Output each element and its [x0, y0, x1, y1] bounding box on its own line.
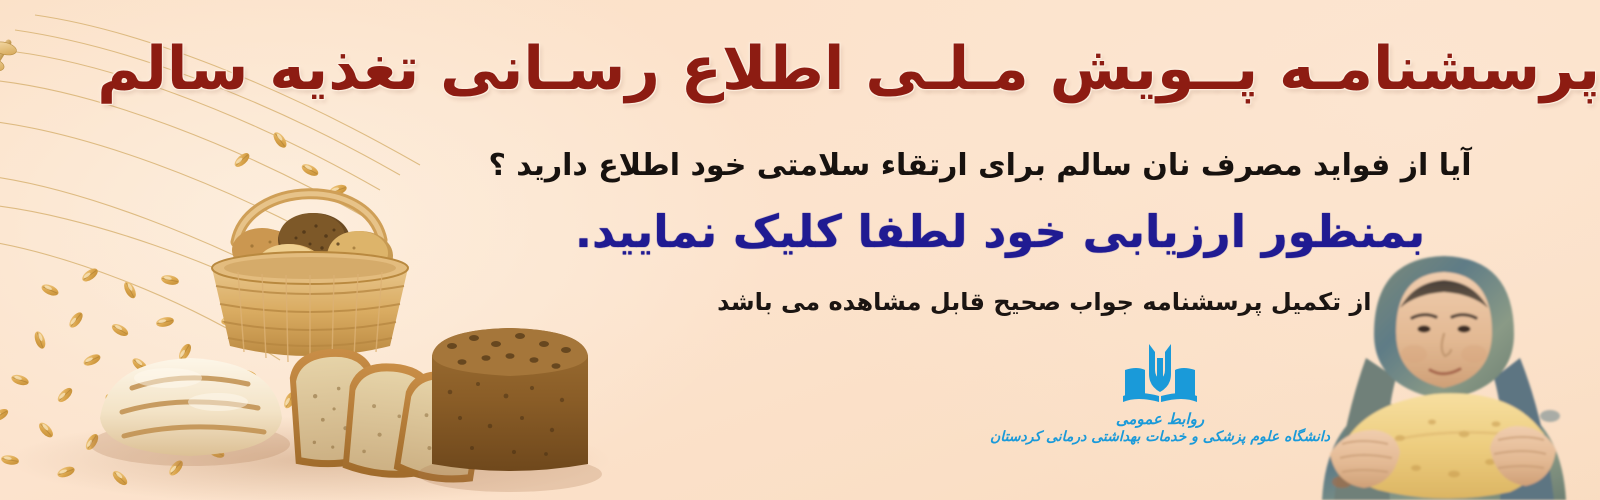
scattered-grains: [0, 130, 348, 488]
banner-subtitle: آیا از فواید مصرف نان سالم برای ارتقاء س…: [360, 148, 1600, 183]
open-book-tulip-emblem-icon: [1121, 340, 1199, 406]
logo-public-relations-label: روابط عمومی: [1116, 410, 1204, 428]
campaign-banner: پرسشنامـه پــویش مـلـی اطلاع رسـانی تغذی…: [0, 0, 1600, 500]
white-loaf: [90, 358, 290, 466]
page-title: پرسشنامـه پــویش مـلـی اطلاع رسـانی تغذی…: [350, 34, 1600, 105]
logo-university-label: دانشگاه علوم پزشکی و خدمات بهداشتی درمان…: [990, 429, 1330, 445]
elderly-woman-photo: [1304, 238, 1584, 500]
